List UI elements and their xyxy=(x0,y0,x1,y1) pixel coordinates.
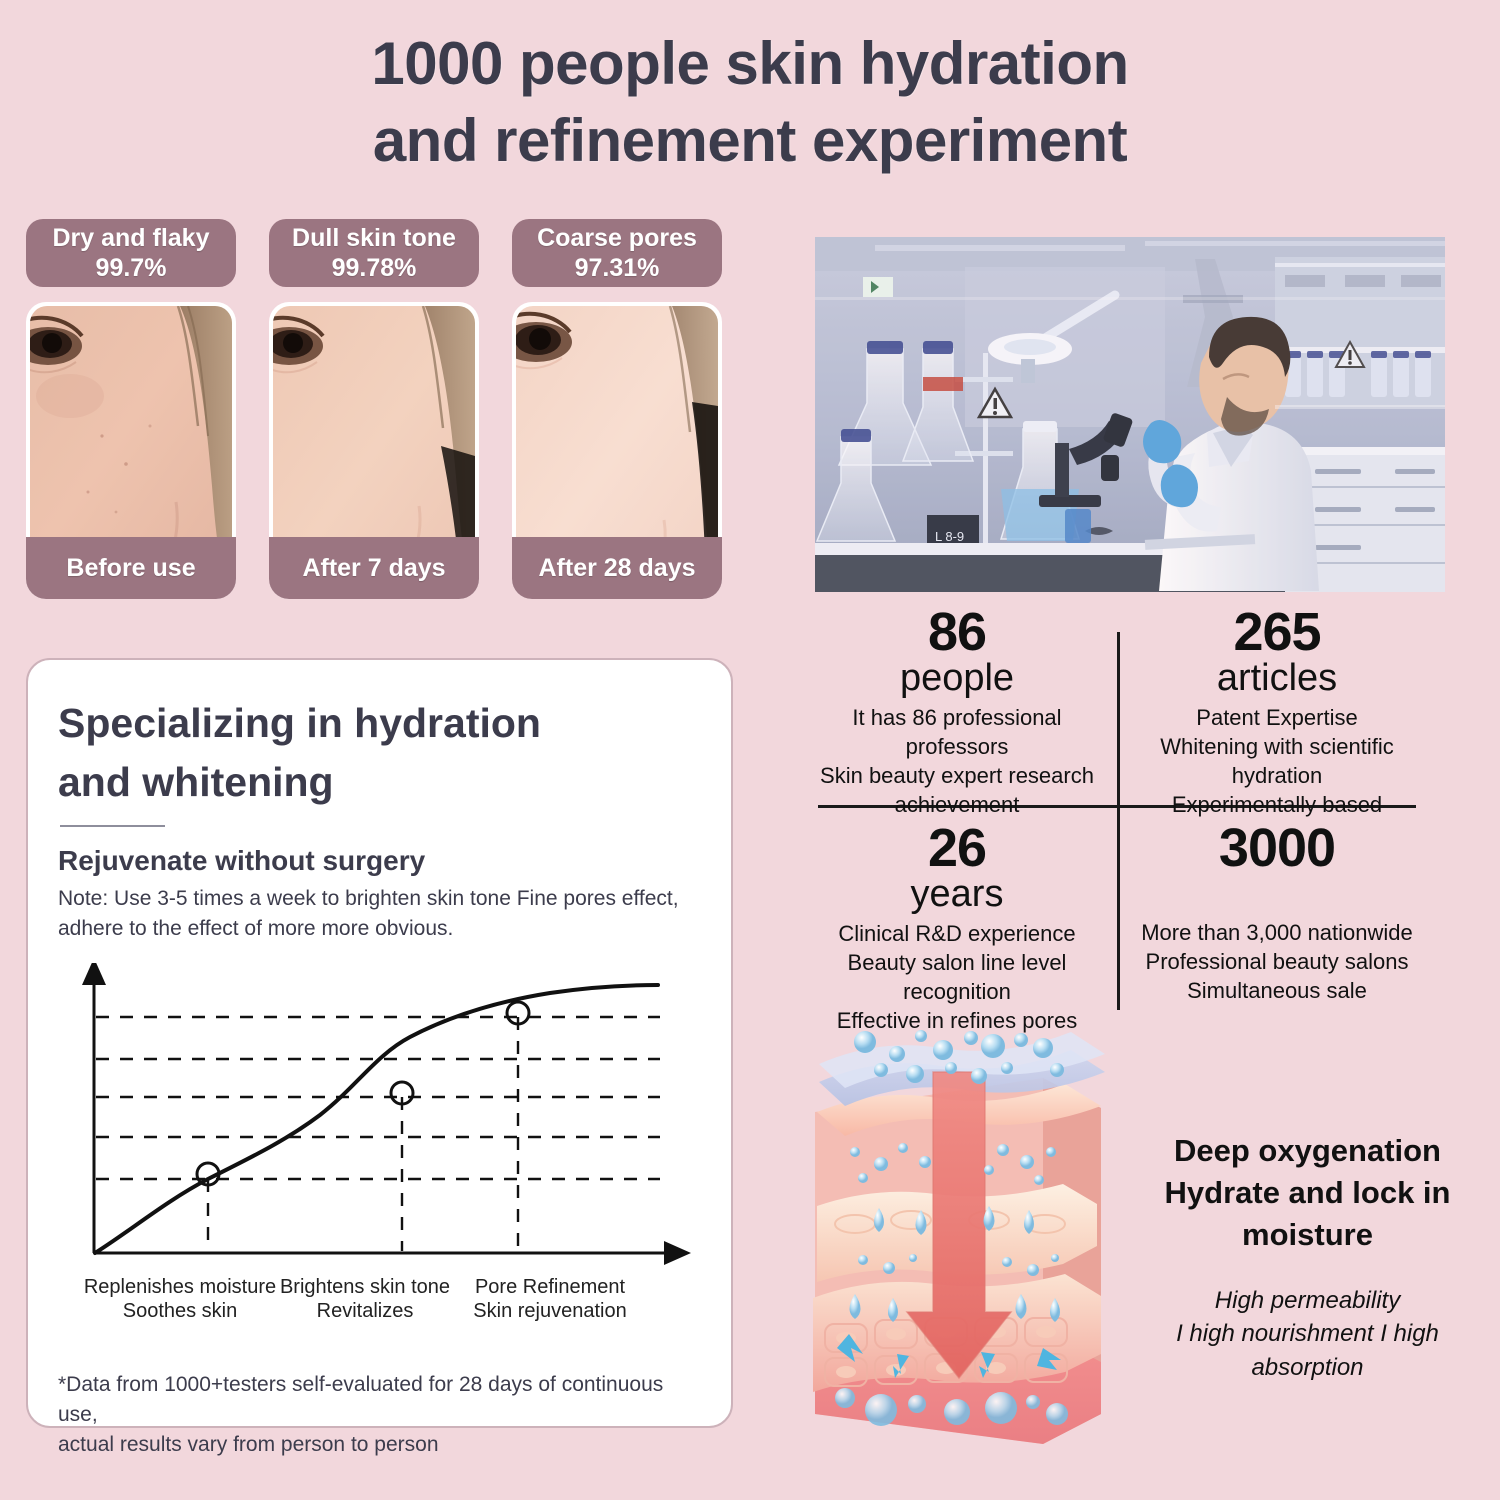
card-heading: Specializing in hydration and whitening xyxy=(58,694,701,813)
specializing-card: Specializing in hydration and whitening … xyxy=(26,658,733,1428)
stat-desc-line: Simultaneous sale xyxy=(1132,976,1422,1005)
title-line-1: 1000 people skin hydration xyxy=(371,30,1128,97)
stat-number: 265 xyxy=(1132,607,1422,658)
efficacy-chart: Replenishes moisture Soothes skin Bright… xyxy=(80,963,700,1363)
x-tick-label-2: Pore Refinement Skin rejuvenation xyxy=(435,1275,665,1324)
before-after-column: Coarse pores 97.31% xyxy=(512,219,722,599)
stat-unit: articles xyxy=(1132,659,1422,697)
face-photo-card: Before use xyxy=(26,302,236,599)
footnote-line-2: actual results vary from person to perso… xyxy=(58,1430,703,1460)
gridlines-vertical xyxy=(208,1017,518,1251)
title-line-2: and refinement experiment xyxy=(0,103,1500,180)
stat-unit: years xyxy=(812,875,1102,913)
condition-pill: Dull skin tone 99.78% xyxy=(269,219,479,287)
gridlines-horizontal xyxy=(96,1017,660,1179)
stat-desc-line: Skin beauty expert research xyxy=(812,761,1102,790)
condition-percent: 99.7% xyxy=(96,253,167,284)
photo-caption: After 7 days xyxy=(269,537,479,599)
infographic-root: 1000 people skin hydration and refinemen… xyxy=(0,0,1500,1500)
footnote-line-1: *Data from 1000+testers self-evaluated f… xyxy=(58,1370,703,1430)
deep-headline-line-1: Deep oxygenation xyxy=(1130,1130,1485,1172)
stat-block-salons: 3000 More than 3,000 nationwide Professi… xyxy=(1132,823,1422,1005)
deep-headline-line-2: Hydrate and lock in xyxy=(1130,1172,1485,1214)
stat-block-articles: 265 articles Patent Expertise Whitening … xyxy=(1132,607,1422,819)
deep-oxygenation-block: Deep oxygenation Hydrate and lock in moi… xyxy=(1130,1130,1485,1384)
stats-grid: 86 people It has 86 professional profess… xyxy=(812,605,1422,1000)
card-note-line-2: adhere to the effect of more more obviou… xyxy=(58,914,701,944)
photo-caption: After 28 days xyxy=(512,537,722,599)
face-photo-card: After 28 days xyxy=(512,302,722,599)
heading-divider xyxy=(60,825,165,827)
deep-headline-line-3: moisture xyxy=(1130,1214,1485,1256)
condition-label: Coarse pores xyxy=(537,223,697,254)
page-title: 1000 people skin hydration and refinemen… xyxy=(0,26,1500,180)
stat-desc-line: More than 3,000 nationwide xyxy=(1132,918,1422,947)
stat-block-years: 26 years Clinical R&D experience Beauty … xyxy=(812,823,1102,1035)
stat-number: 86 xyxy=(812,607,1102,658)
deep-subtext: High permeability I high nourishment I h… xyxy=(1130,1284,1485,1385)
photo-caption: Before use xyxy=(26,537,236,599)
deep-subtext-line-2: I high nourishment I high absorption xyxy=(1130,1317,1485,1384)
card-footnote: *Data from 1000+testers self-evaluated f… xyxy=(58,1370,703,1459)
card-subheading: Rejuvenate without surgery xyxy=(58,845,701,877)
stat-desc-line: Patent Expertise xyxy=(1132,703,1422,732)
chart-curve xyxy=(95,985,658,1253)
stats-vertical-divider xyxy=(1117,632,1120,1010)
condition-percent: 99.78% xyxy=(332,253,417,284)
x-tick-line: Pore Refinement xyxy=(435,1275,665,1299)
deep-headline: Deep oxygenation Hydrate and lock in moi… xyxy=(1130,1130,1485,1256)
chart-svg xyxy=(80,963,700,1283)
stat-desc-line: Clinical R&D experience xyxy=(812,919,1102,948)
condition-pill: Coarse pores 97.31% xyxy=(512,219,722,287)
condition-label: Dry and flaky xyxy=(52,223,209,254)
condition-pill: Dry and flaky 99.7% xyxy=(26,219,236,287)
skin-cross-section-image xyxy=(793,1012,1123,1480)
condition-percent: 97.31% xyxy=(575,253,660,284)
stat-desc-line: Experimentally based xyxy=(1132,790,1422,819)
stat-desc-line: It has 86 professional professors xyxy=(812,703,1102,761)
stat-block-people: 86 people It has 86 professional profess… xyxy=(812,607,1102,819)
lab-scene-image: 75 xyxy=(815,237,1445,592)
stat-unit: people xyxy=(812,659,1102,697)
before-after-column: Dull skin tone 99.78% xyxy=(269,219,479,599)
before-after-gallery: Dry and flaky 99.7% xyxy=(26,219,746,599)
card-heading-line-1: Specializing in hydration xyxy=(58,694,701,753)
face-photo-card: After 7 days xyxy=(269,302,479,599)
skin-layers-illustration xyxy=(793,1012,1123,1480)
stat-desc-line: Beauty salon line level recognition xyxy=(812,948,1102,1006)
card-note-line-1: Note: Use 3-5 times a week to brighten s… xyxy=(58,884,701,914)
stat-desc-line: Whitening with scientific hydration xyxy=(1132,732,1422,790)
stat-desc-line: Professional beauty salons xyxy=(1132,947,1422,976)
condition-label: Dull skin tone xyxy=(292,223,456,254)
before-after-column: Dry and flaky 99.7% xyxy=(26,219,236,599)
x-tick-line: Skin rejuvenation xyxy=(435,1299,665,1323)
laboratory-photo: 75 xyxy=(815,237,1445,592)
card-note: Note: Use 3-5 times a week to brighten s… xyxy=(58,884,701,945)
stat-number: 3000 xyxy=(1132,823,1422,874)
stat-desc-line: achievement xyxy=(812,790,1102,819)
card-heading-line-2: and whitening xyxy=(58,753,701,812)
deep-subtext-line-1: High permeability xyxy=(1130,1284,1485,1318)
stat-number: 26 xyxy=(812,823,1102,874)
